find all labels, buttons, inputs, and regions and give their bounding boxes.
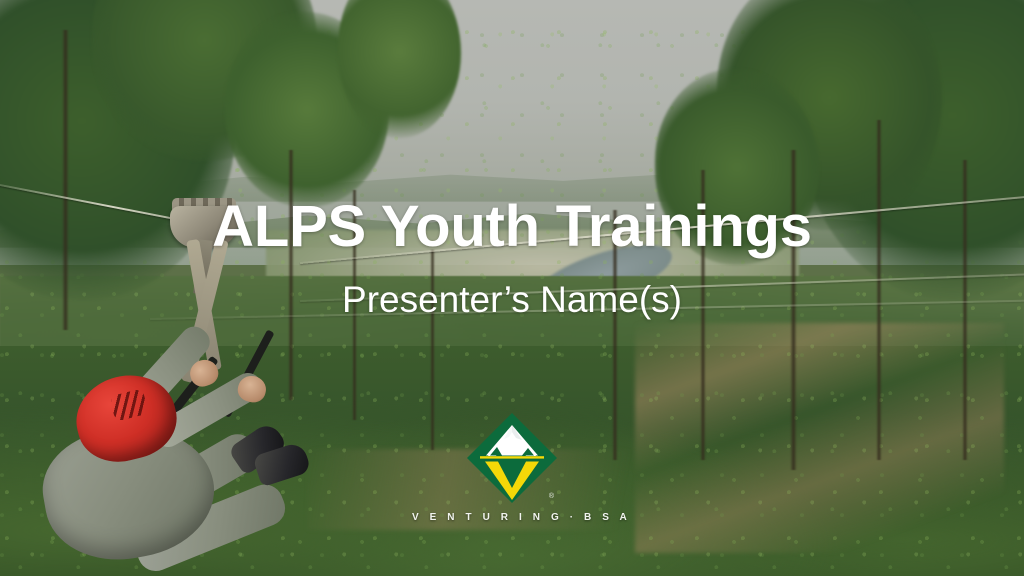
tree-trunk bbox=[962, 160, 968, 460]
tree-trunk bbox=[876, 120, 882, 460]
venturing-bsa-logo: ® V E N T U R I N G · B S A bbox=[412, 412, 612, 523]
registered-trademark-icon: ® bbox=[549, 493, 554, 500]
tree-trunk bbox=[700, 170, 706, 460]
logo-wordmark: V E N T U R I N G · B S A bbox=[412, 512, 612, 523]
venturing-diamond-icon: ® bbox=[466, 412, 558, 504]
tree-trunk bbox=[352, 190, 357, 420]
presentation-slide: ALPS Youth Trainings Presenter’s Name(s) bbox=[0, 0, 1024, 576]
tree-trunk bbox=[790, 150, 797, 470]
tree-trunk bbox=[612, 210, 618, 460]
zipline-rider bbox=[20, 200, 320, 576]
